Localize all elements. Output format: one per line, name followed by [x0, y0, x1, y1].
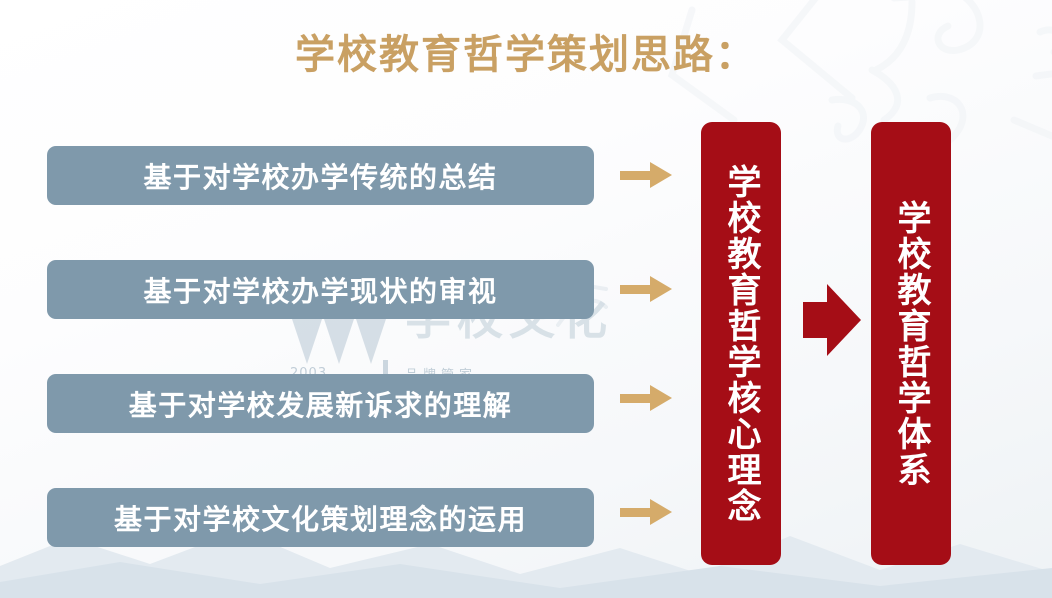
slide-canvas: 所 春 藤 文 化 学校文化 2003 品牌管家 学校教育哲学策划思路： 基于对…	[0, 0, 1052, 598]
pillar-core-concept[interactable]: 学校教育哲学核心理念	[701, 122, 781, 565]
red-arrow-icon	[803, 284, 861, 356]
pillar-philosophy-system[interactable]: 学校教育哲学体系	[871, 122, 951, 565]
gold-arrow-head-1	[650, 162, 672, 188]
gold-arrow-icon-1	[620, 162, 672, 188]
gold-arrow-shaft-1	[620, 171, 654, 180]
gold-arrow-icon-2	[620, 276, 672, 302]
gold-arrow-head-2	[650, 276, 672, 302]
input-box-current-state[interactable]: 基于对学校办学现状的审视	[47, 260, 594, 319]
gold-arrow-icon-3	[620, 385, 672, 411]
page-title: 学校教育哲学策划思路：	[0, 22, 1052, 80]
gold-arrow-shaft-3	[620, 394, 654, 403]
input-box-new-demands-label: 基于对学校发展新诉求的理解	[129, 384, 513, 424]
gold-arrow-icon-4	[620, 499, 672, 525]
gold-arrow-shaft-2	[620, 285, 654, 294]
pillar-core-concept-label: 学校教育哲学核心理念	[721, 164, 761, 524]
gold-arrow-head-3	[650, 385, 672, 411]
input-box-list: 基于对学校办学传统的总结 基于对学校办学现状的审视 基于对学校发展新诉求的理解 …	[47, 146, 594, 547]
input-box-new-demands[interactable]: 基于对学校发展新诉求的理解	[47, 374, 594, 433]
input-box-culture-planning[interactable]: 基于对学校文化策划理念的运用	[47, 488, 594, 547]
input-box-tradition-label: 基于对学校办学传统的总结	[143, 156, 497, 196]
input-box-tradition[interactable]: 基于对学校办学传统的总结	[47, 146, 594, 205]
gold-arrow-head-4	[650, 499, 672, 525]
red-arrow-head	[827, 284, 861, 356]
gold-arrow-shaft-4	[620, 508, 654, 517]
input-box-culture-planning-label: 基于对学校文化策划理念的运用	[114, 498, 527, 538]
input-box-current-state-label: 基于对学校办学现状的审视	[143, 270, 497, 310]
pillar-philosophy-system-label: 学校教育哲学体系	[891, 200, 931, 488]
